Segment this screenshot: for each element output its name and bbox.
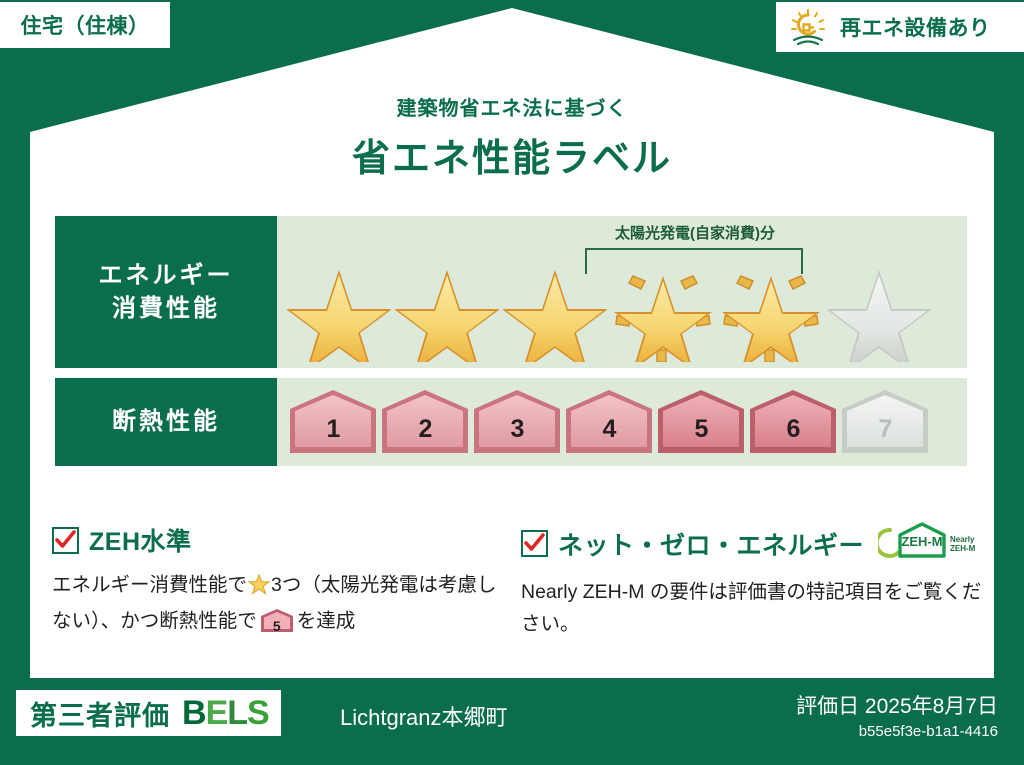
solar-bracket-label: 太陽光発電(自家消費)分: [535, 222, 855, 243]
label-title-block: 建築物省エネ法に基づく 省エネ性能ラベル: [0, 92, 1024, 182]
badge-renewable-energy-label: 再エネ設備あり: [840, 12, 991, 42]
badge-building-type: 住宅（住棟）: [0, 2, 172, 50]
inline-star-icon: [248, 578, 270, 600]
evaluation-date: 評価日 2025年8月7日: [796, 690, 998, 720]
row-energy-body: 太陽光発電(自家消費)分: [277, 216, 967, 368]
star-filled-2: [395, 254, 499, 362]
criterion-net-zero-energy-header: ネット・ゼロ・エネルギー ZEH-M Nearly ZEH-M: [521, 522, 982, 565]
evaluation-id: b55e5f3e-b1a1-4416: [796, 723, 998, 740]
bels-certification-mark: 第三者評価 BELS: [16, 690, 281, 736]
star-filled-solar-4: [611, 254, 715, 362]
criterion-net-zero-energy-title: ネット・ゼロ・エネルギー: [558, 526, 864, 562]
row-insulation-body: 1 2 3: [277, 378, 967, 466]
bels-letter-e: E: [206, 694, 228, 732]
insulation-level-5: 5: [657, 389, 746, 455]
check-icon: [524, 533, 545, 554]
row-energy-label-line1: エネルギー: [99, 259, 234, 292]
star-empty-6: [827, 254, 931, 362]
star-filled-solar-5: [719, 254, 823, 362]
bels-logo-letters: BELS: [182, 696, 269, 730]
inline-house-badge: 5: [260, 608, 294, 633]
row-energy-label: エネルギー 消費性能: [55, 216, 277, 368]
insulation-level-scale: 1 2 3: [289, 389, 967, 455]
insulation-level-6: 6: [749, 389, 838, 455]
criterion-zeh-standard-header: ZEH水準: [52, 522, 499, 558]
star-filled-3: [503, 254, 607, 362]
svg-text:ZEH-M: ZEH-M: [901, 534, 942, 549]
row-insulation-label-text: 断熱性能: [112, 405, 220, 438]
performance-rows: エネルギー 消費性能 太陽光発電(自家消費)分: [55, 216, 967, 466]
insulation-level-3: 3: [473, 389, 562, 455]
insulation-level-7: 7: [841, 389, 930, 455]
checkbox-net-zero-energy[interactable]: [521, 530, 548, 557]
star-rating: [277, 254, 967, 362]
bels-letter-l: L: [227, 694, 247, 732]
energy-performance-label: 住宅（住棟） 再エネ設備あり: [0, 0, 1024, 765]
row-energy-label-line2: 消費性能: [112, 292, 220, 325]
criterion-zeh-standard-description: エネルギー消費性能で3つ（太陽光発電は考慮しない）、かつ断熱性能で5を達成: [52, 570, 499, 637]
bels-letter-s: S: [247, 694, 269, 732]
criterion-net-zero-energy-description: Nearly ZEH-M の要件は評価書の特記項目をご覧ください。: [521, 577, 982, 640]
desc-text-part3: を達成: [297, 610, 356, 632]
star-filled-1: [287, 254, 391, 362]
bels-third-party-label: 第三者評価: [30, 694, 170, 733]
label-footer: 第三者評価 BELS Lichtgranz本郷町 評価日 2025年8月7日 b…: [0, 678, 1024, 765]
check-icon: [55, 530, 76, 551]
badge-building-type-label: 住宅（住棟）: [21, 10, 150, 40]
label-main-title: 省エネ性能ラベル: [0, 127, 1024, 182]
criterion-zeh-standard: ZEH水準 エネルギー消費性能で3つ（太陽光発電は考慮しない）、かつ断熱性能で5…: [52, 522, 499, 640]
criterion-net-zero-energy: ネット・ゼロ・エネルギー ZEH-M Nearly ZEH-M Nearly Z…: [521, 522, 982, 640]
svg-text:Nearly: Nearly: [950, 535, 975, 544]
solar-renewable-icon: [790, 8, 830, 46]
row-energy-performance: エネルギー 消費性能 太陽光発電(自家消費)分: [55, 216, 967, 368]
row-insulation-label: 断熱性能: [55, 378, 277, 466]
insulation-level-1: 1: [289, 389, 378, 455]
evaluation-info: 評価日 2025年8月7日 b55e5f3e-b1a1-4416: [796, 690, 998, 740]
insulation-level-4: 4: [565, 389, 654, 455]
insulation-level-2: 2: [381, 389, 470, 455]
checkbox-zeh-standard[interactable]: [52, 527, 79, 554]
desc-text-part1: エネルギー消費性能で: [52, 574, 247, 596]
label-subtitle: 建築物省エネ法に基づく: [0, 92, 1024, 121]
zeh-m-logo: ZEH-M Nearly ZEH-M: [878, 522, 982, 565]
building-name: Lichtgranz本郷町: [340, 700, 508, 732]
criterion-zeh-standard-title: ZEH水準: [89, 522, 192, 558]
criteria-section: ZEH水準 エネルギー消費性能で3つ（太陽光発電は考慮しない）、かつ断熱性能で5…: [52, 522, 982, 640]
svg-text:ZEH-M: ZEH-M: [950, 544, 976, 553]
row-insulation-performance: 断熱性能 1: [55, 378, 967, 466]
inline-house-number: 5: [260, 615, 294, 638]
bels-letter-b: B: [182, 694, 206, 732]
badge-renewable-energy: 再エネ設備あり: [774, 2, 1024, 54]
